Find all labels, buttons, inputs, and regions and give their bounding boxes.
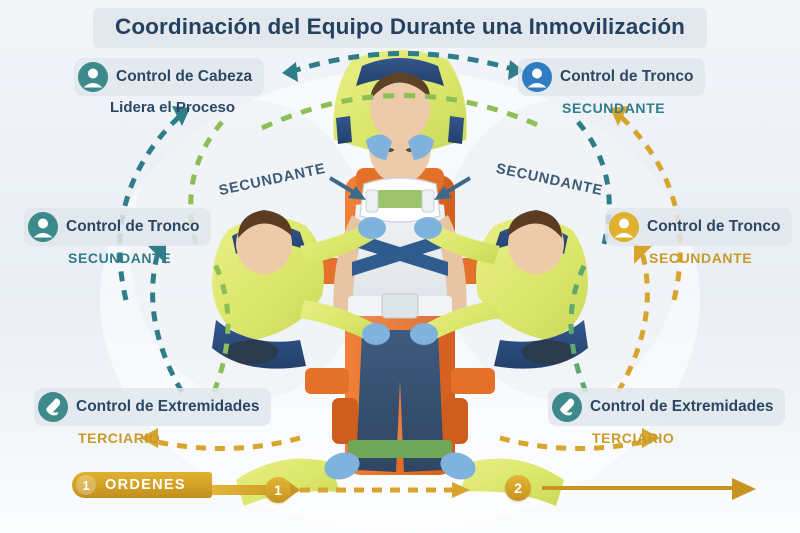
person-icon bbox=[77, 61, 109, 93]
node-head-control[interactable]: Control de Cabeza Lidera el Proceso bbox=[74, 58, 264, 116]
node-limbs-right[interactable]: Control de Extremidades TERCIARIO bbox=[548, 388, 785, 446]
node-head-control-label: Control de Cabeza bbox=[116, 68, 252, 86]
node-limbs-left-label: Control de Extremidades bbox=[76, 398, 259, 416]
node-limbs-left[interactable]: Control de Extremidades TERCIARIO bbox=[34, 388, 271, 446]
node-trunk-top-right-label: Control de Tronco bbox=[560, 68, 693, 86]
orders-badge-number: 1 bbox=[76, 475, 96, 495]
node-trunk-left-label: Control de Tronco bbox=[66, 218, 199, 236]
node-trunk-left[interactable]: Control de Tronco SECUNDANTE bbox=[24, 208, 211, 266]
person-icon bbox=[608, 211, 640, 243]
node-trunk-left-role: SECUNDANTE bbox=[68, 250, 211, 266]
leg-foot-icon bbox=[551, 391, 583, 423]
node-trunk-top-right[interactable]: Control de Tronco SECUNDANTE bbox=[518, 58, 705, 116]
step-circle-2[interactable]: 2 bbox=[505, 475, 531, 501]
node-limbs-right-label: Control de Extremidades bbox=[590, 398, 773, 416]
step-circle-1[interactable]: 1 bbox=[265, 477, 291, 503]
node-trunk-top-right-role: SECUNDANTE bbox=[562, 100, 705, 116]
node-limbs-right-role: TERCIARIO bbox=[592, 430, 785, 446]
orders-badge[interactable]: 1 ORDENES bbox=[72, 472, 212, 498]
node-limbs-left-role: TERCIARIO bbox=[78, 430, 271, 446]
node-trunk-left-chip[interactable]: Control de Tronco bbox=[24, 208, 211, 246]
person-icon bbox=[27, 211, 59, 243]
node-limbs-left-chip[interactable]: Control de Extremidades bbox=[34, 388, 271, 426]
node-head-control-role: Lidera el Proceso bbox=[110, 99, 264, 116]
node-trunk-right-role: SECUNDANTE bbox=[649, 250, 792, 266]
node-head-control-chip[interactable]: Control de Cabeza bbox=[74, 58, 264, 96]
leg-foot-icon bbox=[37, 391, 69, 423]
node-limbs-right-chip[interactable]: Control de Extremidades bbox=[548, 388, 785, 426]
node-trunk-right-label: Control de Tronco bbox=[647, 218, 780, 236]
node-trunk-right-chip[interactable]: Control de Tronco bbox=[605, 208, 792, 246]
person-icon bbox=[521, 61, 553, 93]
page-title-text: Coordinación del Equipo Durante una Inmo… bbox=[115, 14, 685, 39]
node-trunk-top-right-chip[interactable]: Control de Tronco bbox=[518, 58, 705, 96]
node-trunk-right[interactable]: Control de Tronco SECUNDANTE bbox=[605, 208, 792, 266]
page-title: Coordinación del Equipo Durante una Inmo… bbox=[93, 8, 707, 48]
infographic-canvas: Coordinación del Equipo Durante una Inmo… bbox=[0, 0, 800, 533]
orders-badge-label: ORDENES bbox=[105, 477, 186, 493]
